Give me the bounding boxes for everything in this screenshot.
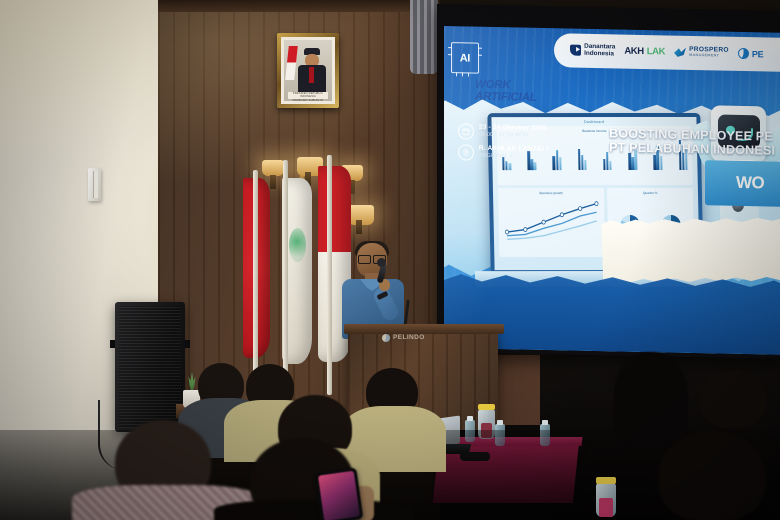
bar-group: [552, 150, 561, 170]
wall-sconce-lamp: [262, 160, 284, 176]
danantara-line2: Indonesia: [584, 51, 615, 58]
logo-akhlak: AKHLAK: [624, 46, 665, 58]
pelindo-mark-icon: [738, 48, 749, 59]
akhlak-part1: AKH: [624, 46, 643, 57]
flag-pole: [283, 160, 288, 400]
portrait-caption-line2: PRABOWO SUBIANTO: [288, 99, 328, 101]
flag-emblem: [289, 228, 306, 262]
light-switch[interactable]: [88, 168, 101, 201]
podium-logo: PELINDO: [382, 332, 432, 343]
attendee-body-foreground: [214, 500, 414, 520]
logo-danantara-indonesia: Danantara Indonesia: [570, 44, 615, 58]
location-pin-icon: [458, 144, 474, 160]
smartphone[interactable]: [315, 467, 364, 520]
window-curtain: [410, 0, 438, 74]
attendee-hijab-silhouette: [614, 352, 688, 448]
torn-paper-banner: [601, 216, 780, 283]
logo-prospero-management: PROSPERO MANAGEMENT: [674, 47, 729, 59]
indonesia-flag-small: [285, 46, 298, 80]
line-chart-svg: [500, 195, 603, 244]
podium-logo-text: PELINDO: [393, 334, 425, 341]
torn-paper-text: WORK ARTIFICIAL: [475, 78, 537, 104]
torn-line-2: ARTIFICIAL: [475, 91, 537, 105]
logo-pelindo: PE: [738, 48, 764, 60]
pelindo-text: PE: [752, 49, 764, 59]
danantara-mark-icon: [570, 45, 581, 56]
slide-info-block: 23 - 24 Oktober 2026 09.00 - 17.00 WITA …: [458, 123, 550, 162]
torn-line-1: WORK: [475, 78, 537, 92]
speaker-grille: [119, 306, 181, 428]
drink-jar-lid: [596, 477, 616, 484]
prospero-mark-icon: [674, 47, 686, 57]
akhlak-part2: LAK: [647, 46, 665, 57]
attendee-head-foreground: [658, 430, 766, 520]
prospero-line2: MANAGEMENT: [689, 53, 729, 59]
wall-light-glow: [0, 0, 160, 200]
flag-pole: [327, 155, 332, 395]
bar-group: [577, 149, 586, 170]
portrait-figure: [298, 48, 326, 94]
calendar-icon: [458, 123, 474, 139]
attendee-head: [700, 370, 766, 428]
drink-jar-contents: [599, 498, 613, 517]
portrait-caption: PRESIDEN REPUBLIK INDONESIA PRABOWO SUBI…: [288, 92, 328, 99]
portrait-caption-line1: PRESIDEN REPUBLIK INDONESIA: [288, 92, 328, 99]
event-region: REGIONAL 4: [479, 152, 550, 161]
presentation-slide[interactable]: AI Danantara Indonesia AKHLAK: [444, 26, 780, 355]
pelindo-circle-icon: [382, 334, 390, 342]
presenter-person: [338, 243, 412, 335]
word-chip-text: WO: [736, 173, 764, 194]
portrait-tie: [309, 67, 314, 83]
headline-line-2: PT PELABUHAN INDONESI: [609, 140, 775, 157]
portrait-mat: PRESIDEN REPUBLIK INDONESIA PRABOWO SUBI…: [281, 37, 335, 104]
ai-chip-icon: AI: [451, 42, 479, 74]
slide-headline: BOOSTING EMPLOYEE PE PT PELABUHAN INDONE…: [609, 126, 775, 157]
framed-portrait: PRESIDEN REPUBLIK INDONESIA PRABOWO SUBI…: [277, 33, 339, 108]
conference-room-photo: PRESIDEN REPUBLIK INDONESIA PRABOWO SUBI…: [0, 0, 780, 520]
sponsor-logo-bar: Danantara Indonesia AKHLAK PROSPERO MANA…: [554, 33, 780, 72]
pa-loudspeaker: [115, 302, 185, 432]
wall-sconce-lamp: [348, 205, 374, 225]
info-row-date: 23 - 24 Oktober 2026 09.00 - 17.00 WITA: [458, 123, 550, 141]
line-chart-panel: Business growth: [498, 188, 606, 257]
microphone-head-icon: [377, 258, 386, 267]
ceiling-trim: [158, 0, 440, 12]
drink-jar-lid: [478, 404, 495, 410]
slide-word-chip: WO: [705, 160, 780, 207]
event-time: 09.00 - 17.00 WITA: [479, 131, 547, 140]
ai-chip-label: AI: [460, 52, 470, 64]
info-row-location: R. AKHLAK LANTAI 7 REGIONAL 4: [458, 144, 550, 162]
flag-pole: [253, 170, 258, 400]
portrait-photo: PRESIDEN REPUBLIK INDONESIA PRABOWO SUBI…: [284, 40, 332, 101]
smartphone-screen: [318, 471, 360, 520]
